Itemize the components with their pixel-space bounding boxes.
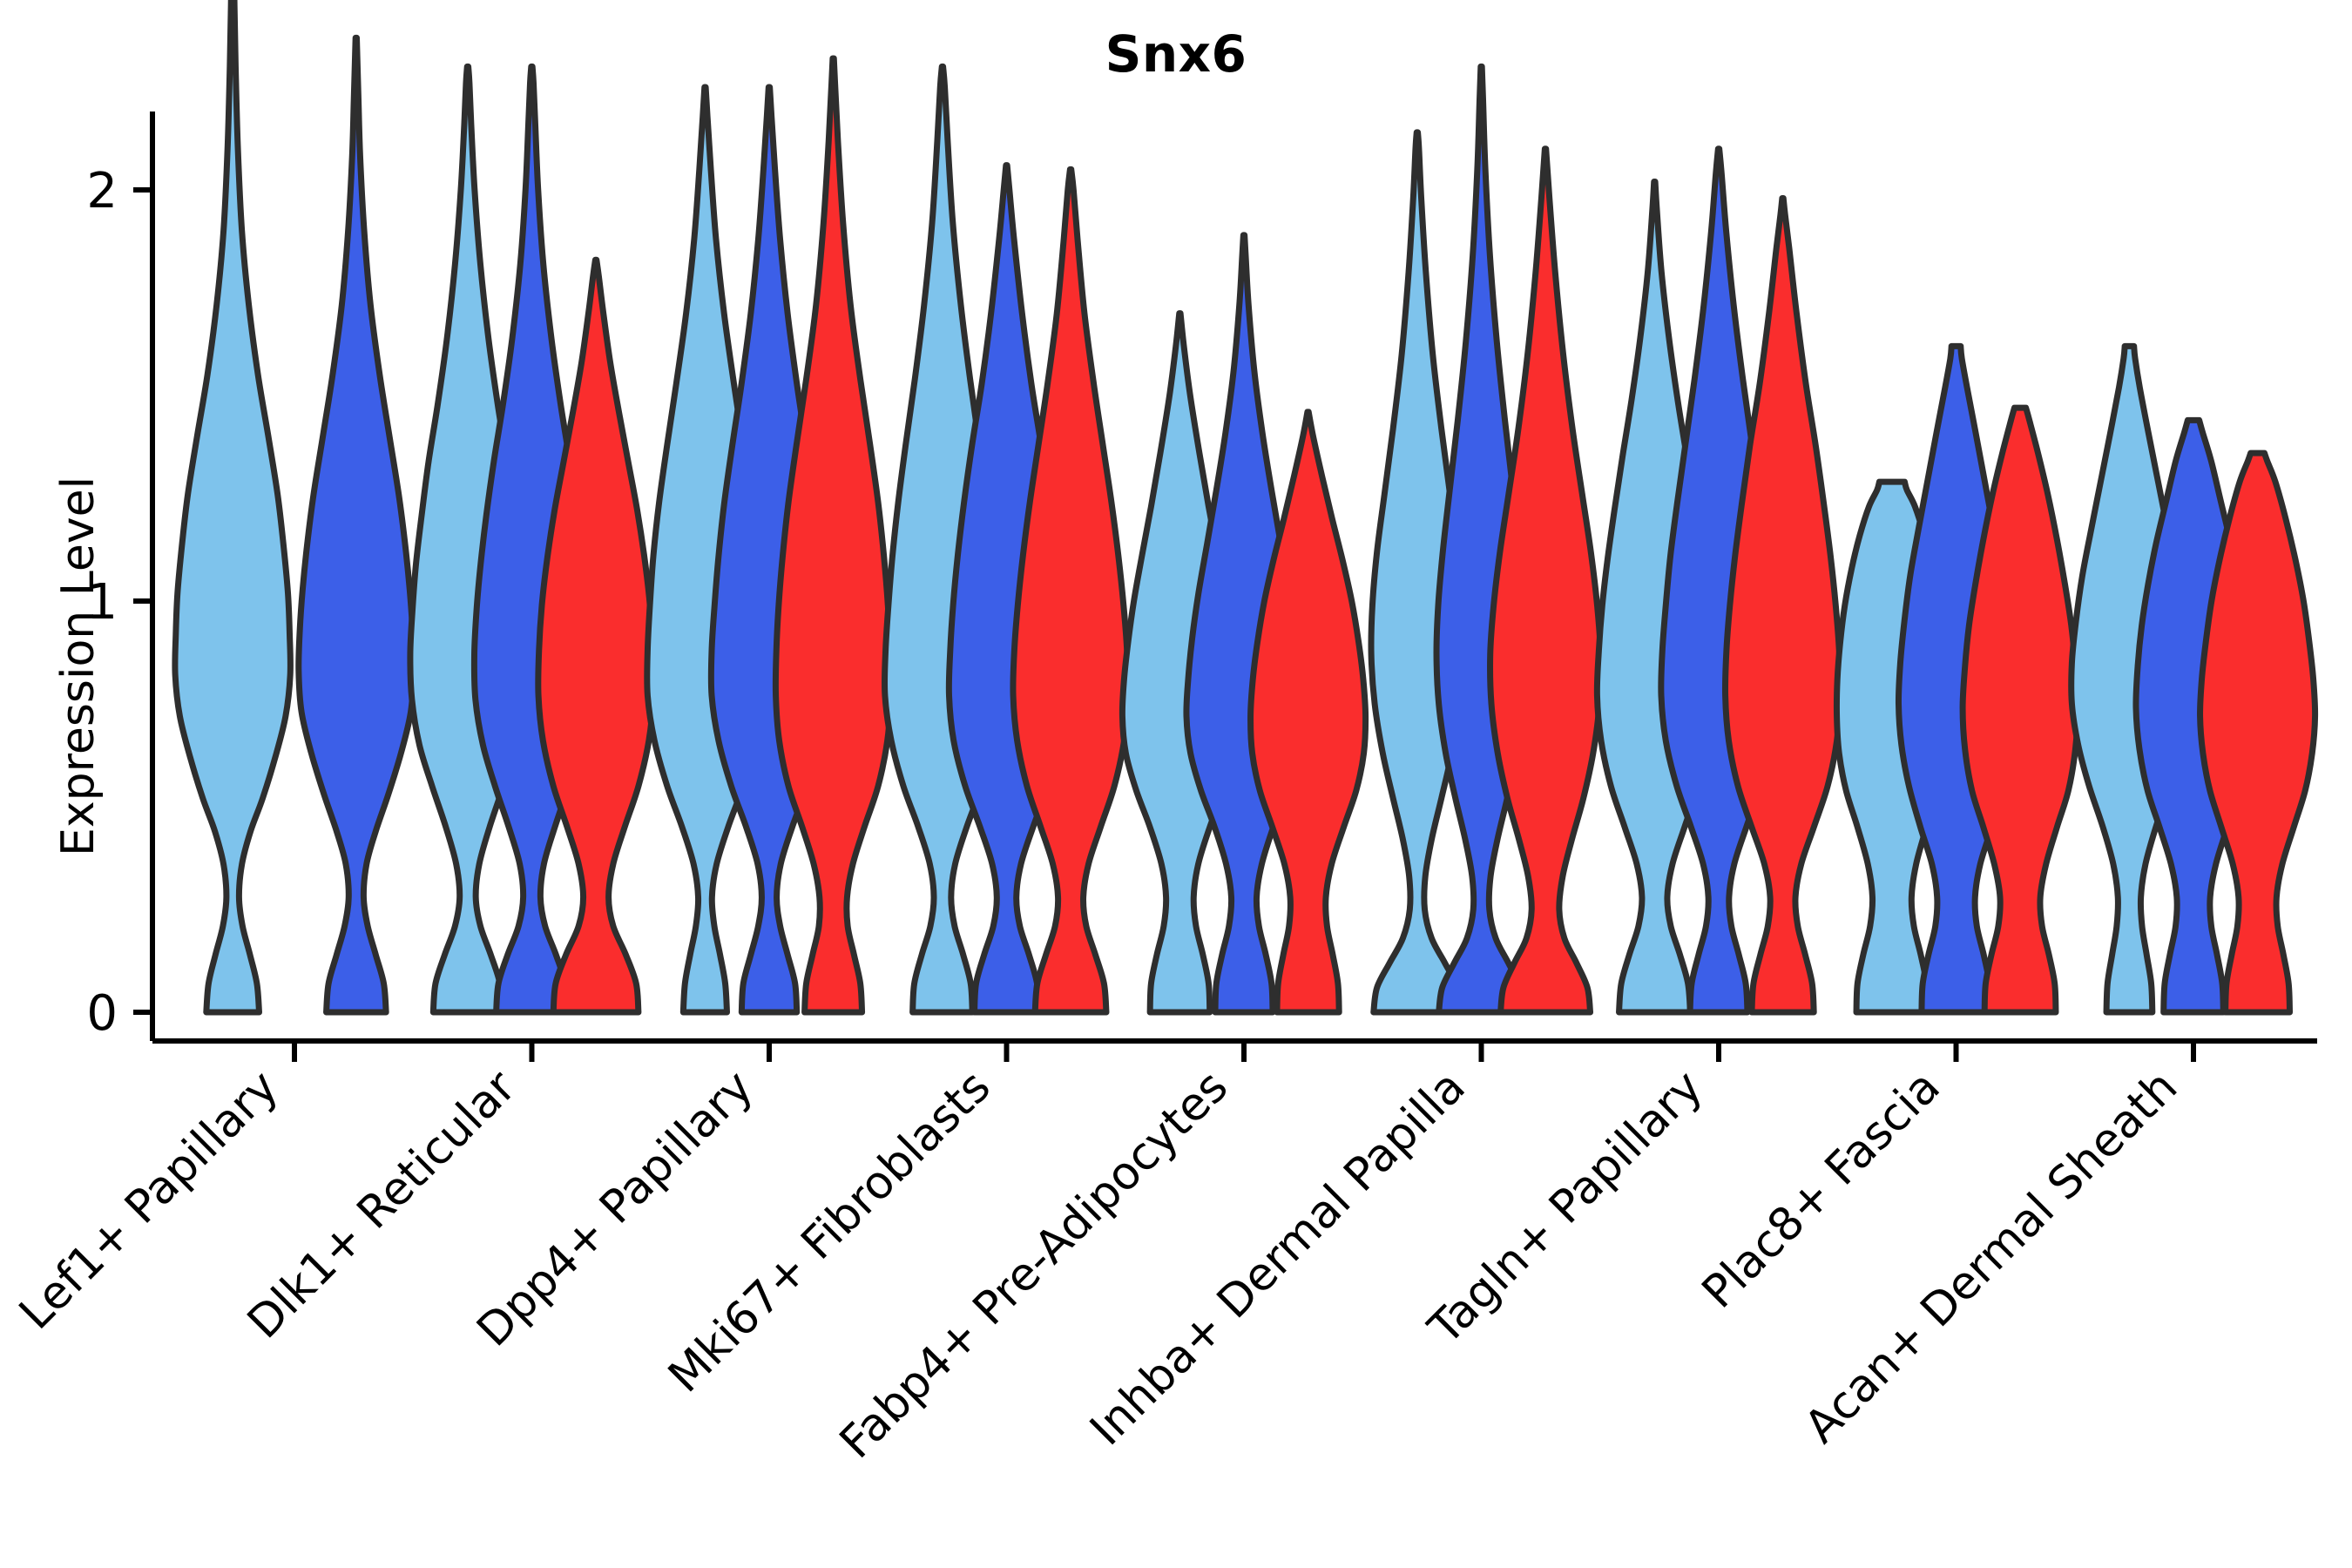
violin-plot-figure: Snx6 Expression Level 012 Lef1+ Papillar… (0, 0, 2352, 1568)
violin-shape[interactable] (1725, 198, 1840, 1012)
x-tick-label-layer: Lef1+ PapillaryDlk1+ ReticularDpp4+ Papi… (10, 1060, 2187, 1469)
violin[interactable] (1725, 198, 1840, 1012)
violin[interactable] (1490, 149, 1601, 1012)
violin-shape[interactable] (175, 0, 291, 1012)
x-tick-label-group: Plac8+ Fascia (1693, 1061, 1950, 1319)
x-tick-label: Lef1+ Papillary (10, 1061, 288, 1340)
x-tick-label-group: Fabp4+ Pre-Adipocytes (830, 1061, 1238, 1469)
x-tick-label-group: Inhba+ Dermal Papilla (1080, 1061, 1475, 1456)
violin-shape[interactable] (299, 37, 414, 1012)
violin-shape[interactable] (775, 58, 890, 1012)
violin[interactable] (1013, 169, 1128, 1012)
violin-shape[interactable] (1490, 149, 1601, 1012)
violin[interactable] (299, 37, 414, 1012)
x-tick-label-group: Lef1+ Papillary (10, 1061, 288, 1340)
violin[interactable] (175, 0, 291, 1012)
y-tick-label: 0 (86, 985, 118, 1042)
y-tick-label: 2 (86, 163, 118, 220)
violin-shape[interactable] (1013, 169, 1128, 1012)
y-tick-label: 1 (86, 574, 118, 631)
plot-canvas: 012 Lef1+ PapillaryDlk1+ ReticularDpp4+ … (0, 0, 2352, 1568)
violin-layer (175, 0, 2315, 1012)
x-tick-label: Plac8+ Fascia (1693, 1061, 1950, 1319)
x-tick-label: Fabp4+ Pre-Adipocytes (830, 1061, 1238, 1469)
violin[interactable] (775, 58, 890, 1012)
x-tick-label: Inhba+ Dermal Papilla (1080, 1061, 1475, 1456)
